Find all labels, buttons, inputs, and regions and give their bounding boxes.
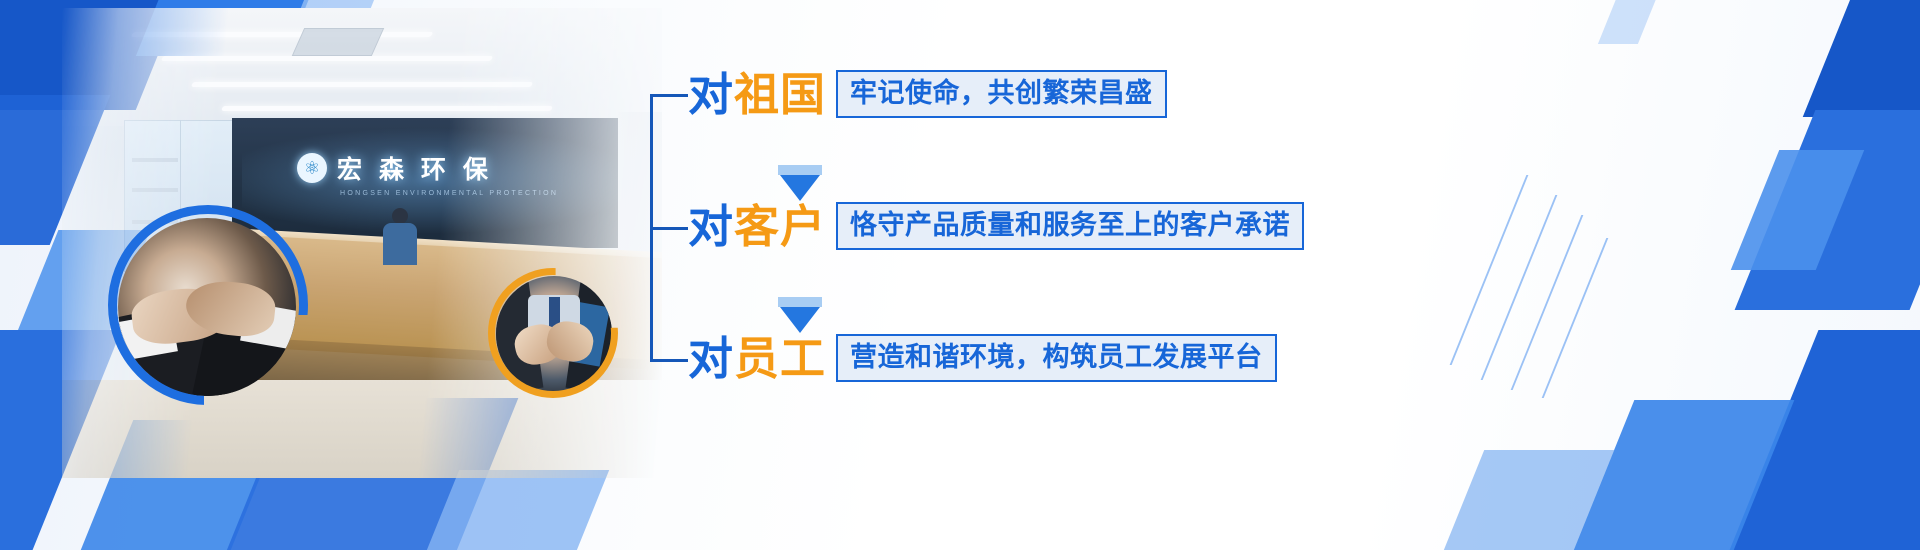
receptionist-figure [380,208,420,264]
ceiling-light-4 [221,106,553,111]
down-triangle-body-2 [780,307,820,333]
value-chip-customer: 恪守产品质量和服务至上的客户承诺 [836,202,1304,250]
bracket-stub-3 [650,359,688,362]
value-lead-subject-employee: 员工 [734,333,826,384]
ceiling-light-3 [191,82,533,87]
down-triangle-body-1 [780,175,820,201]
bracket-stub-2 [650,227,688,230]
ceiling-vent [292,28,384,56]
receptionist-body [383,223,417,265]
value-row-country: 对祖国 牢记使命，共创繁荣昌盛 [688,70,1167,118]
ceiling-light-1 [131,32,434,37]
value-chip-country: 牢记使命，共创繁荣昌盛 [836,70,1167,118]
receptionist-head [392,208,408,224]
shelf-1 [132,158,178,162]
value-row-customer: 对客户 恪守产品质量和服务至上的客户承诺 [688,202,1304,250]
globe-leaf-icon: ⚛ [297,153,327,183]
value-chip-employee: 营造和谐环境，构筑员工发展平台 [836,334,1277,382]
value-lead-customer: 对客户 [688,204,826,249]
value-lead-prefix-customer: 对 [688,201,734,252]
bracket-stub-1 [650,94,688,97]
value-lead-subject-country: 祖国 [734,69,826,120]
value-lead-employee: 对员工 [688,336,826,381]
value-lead-subject-customer: 客户 [734,201,826,252]
company-values-banner: ⚛ 宏 森 环 保 HONGSEN ENVIRONMENTAL PROTECTI… [0,0,1920,550]
company-sign-subtext: HONGSEN ENVIRONMENTAL PROTECTION [340,190,558,197]
values-list: 对祖国 牢记使命，共创繁荣昌盛 对客户 恪守产品质量和服务至上的客户承诺 对员工… [650,70,1330,400]
company-sign: ⚛ 宏 森 环 保 [297,150,493,186]
down-triangle-cap-1 [778,165,822,175]
value-lead-prefix-employee: 对 [688,333,734,384]
company-sign-text: 宏 森 环 保 [337,150,493,186]
value-row-employee: 对员工 营造和谐环境，构筑员工发展平台 [688,334,1277,382]
ceiling-light-2 [161,56,493,61]
down-triangle-cap-2 [778,297,822,307]
value-lead-prefix-country: 对 [688,69,734,120]
shelf-2 [132,188,178,192]
value-lead-country: 对祖国 [688,72,826,117]
